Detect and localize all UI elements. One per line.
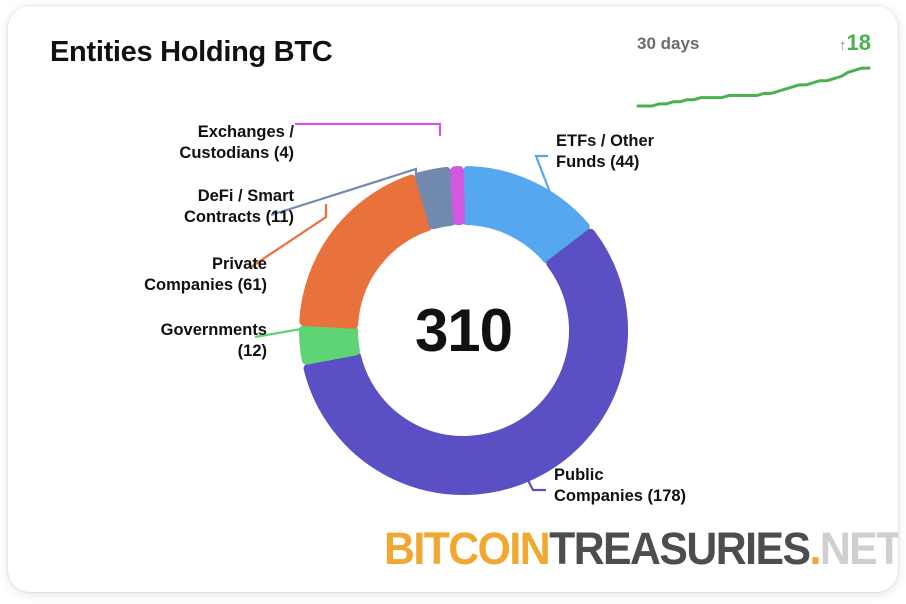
donut-segment[interactable] [304, 330, 356, 360]
watermark-treasuries: TREASURIES [549, 523, 809, 574]
slice-label-exchanges: Exchanges / Custodians (4) [179, 122, 294, 164]
page-title: Entities Holding BTC [50, 36, 332, 69]
donut-segment[interactable] [455, 171, 461, 221]
sparkline-chart [628, 62, 873, 110]
slice-label-public: Public Companies (178) [554, 465, 686, 507]
chart-card: Entities Holding BTC 30 days ↑18 310 Exc… [8, 6, 898, 592]
leader-line-exchanges [295, 124, 440, 136]
watermark-dot: . [809, 523, 819, 574]
trend-delta-number: 18 [847, 30, 871, 55]
slice-label-defi: DeFi / Smart Contracts (11) [184, 186, 294, 228]
donut-segments [304, 171, 624, 491]
donut-chart: 310 [291, 158, 636, 503]
slice-label-private: Private Companies (61) [144, 254, 267, 296]
trend-panel: 30 days ↑18 [628, 30, 873, 110]
donut-svg [291, 158, 636, 503]
watermark-bitcoin: BITCOIN [384, 523, 549, 574]
slice-label-governments: Governments (12) [161, 320, 267, 362]
trend-period-label: 30 days [637, 34, 699, 54]
site-watermark: BITCOINTREASURIES.NET [384, 523, 898, 575]
slice-label-etfs: ETFs / Other Funds (44) [556, 131, 654, 173]
watermark-net: NET [820, 523, 898, 574]
trend-up-arrow-icon: ↑ [839, 37, 847, 54]
sparkline-path [638, 68, 869, 106]
donut-segment[interactable] [304, 179, 428, 324]
trend-delta-value: ↑18 [839, 30, 871, 56]
